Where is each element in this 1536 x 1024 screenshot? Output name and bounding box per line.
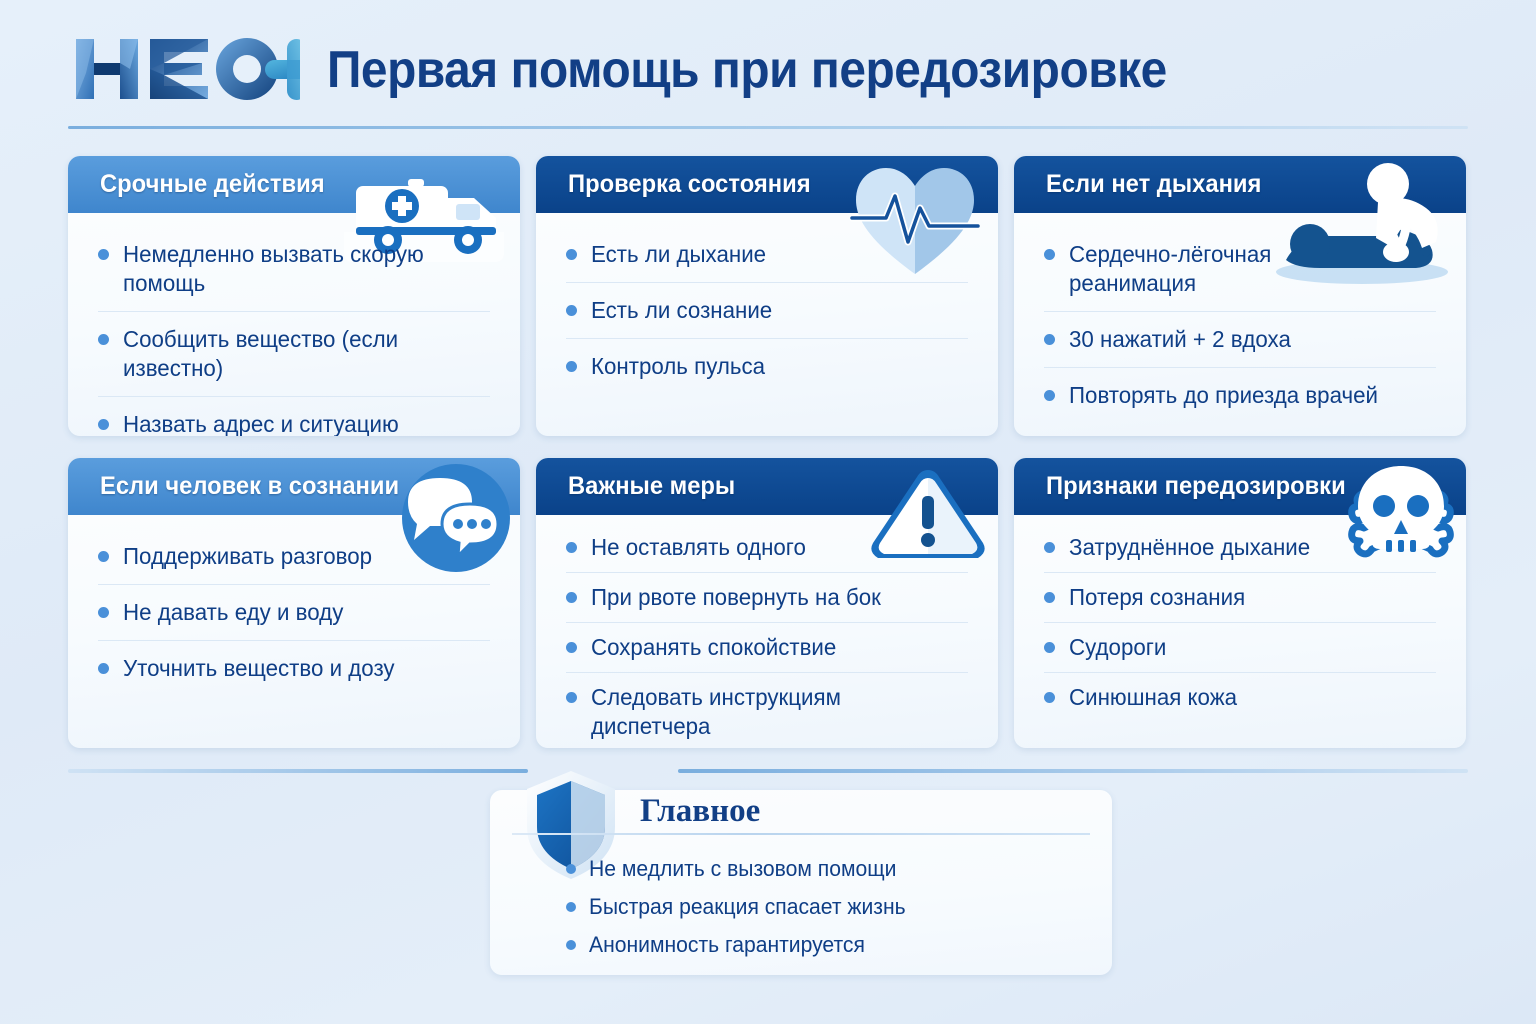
list-item-label: Анонимность гарантируется bbox=[589, 932, 865, 958]
list-item-label: Сохранять спокойствие bbox=[591, 633, 836, 662]
list-item-label: Немедленно вызвать скорую помощь bbox=[123, 240, 479, 298]
bullet-icon bbox=[98, 419, 109, 430]
bullet-icon bbox=[566, 361, 577, 372]
list-item[interactable]: Уточнить вещество и дозу bbox=[98, 641, 490, 696]
list-item[interactable]: Не оставлять одного bbox=[566, 523, 968, 573]
list-item-label: При рвоте повернуть на бок bbox=[591, 583, 881, 612]
bullet-icon bbox=[1044, 592, 1055, 603]
bullet-icon bbox=[566, 592, 577, 603]
header-divider bbox=[68, 126, 1468, 129]
list-item-label: Есть ли сознание bbox=[591, 296, 772, 325]
list-item[interactable]: Немедленно вызвать скорую помощь bbox=[98, 227, 490, 312]
list-item-label: Уточнить вещество и дозу bbox=[123, 654, 395, 683]
list-item[interactable]: Следовать инструкциям диспетчера bbox=[566, 673, 968, 748]
bullet-icon bbox=[1044, 692, 1055, 703]
card-overdose-signs[interactable]: Признаки передозировки Затруднённое дых bbox=[1014, 458, 1466, 748]
list-item[interactable]: Судороги bbox=[1044, 623, 1436, 673]
footer-divider-left bbox=[68, 769, 528, 773]
list-item-label: 30 нажатий + 2 вдоха bbox=[1069, 325, 1291, 354]
header: Первая помощь при передозировке bbox=[0, 0, 1536, 132]
bullet-icon bbox=[98, 249, 109, 260]
card-body: Есть ли дыхание Есть ли сознание Контрол… bbox=[536, 213, 998, 404]
list-item-label: Не давать еду и воду bbox=[123, 598, 343, 627]
card-header: Если человек в сознании bbox=[68, 458, 520, 515]
bullet-icon bbox=[1044, 249, 1055, 260]
bullet-icon bbox=[566, 642, 577, 653]
list-item-label: Судороги bbox=[1069, 633, 1166, 662]
list-item[interactable]: Затруднённое дыхание bbox=[1044, 523, 1436, 573]
list-item[interactable]: Сообщить вещество (если известно) bbox=[98, 312, 490, 397]
bullet-icon bbox=[98, 551, 109, 562]
list-item-label: Синюшная кожа bbox=[1069, 683, 1237, 712]
list-item[interactable]: Поддерживать разговор bbox=[98, 529, 490, 585]
card-header: Проверка состояния bbox=[536, 156, 998, 213]
card-important-measures[interactable]: Важные меры Не оставлять одного При рвот… bbox=[536, 458, 998, 748]
card-conscious-person[interactable]: Если человек в сознании Поддерживать раз… bbox=[68, 458, 520, 748]
footer-title-divider bbox=[512, 833, 1090, 835]
page-title: Первая помощь при передозировке bbox=[327, 40, 1167, 100]
list-item[interactable]: Сохранять спокойствие bbox=[566, 623, 968, 673]
card-title: Если нет дыхания bbox=[1046, 170, 1261, 199]
list-item[interactable]: Есть ли дыхание bbox=[566, 227, 968, 283]
bullet-icon bbox=[566, 305, 577, 316]
bullet-icon bbox=[1044, 542, 1055, 553]
card-body: Не оставлять одного При рвоте повернуть … bbox=[536, 515, 998, 748]
list-item[interactable]: Контроль пульса bbox=[566, 339, 968, 394]
card-title: Проверка состояния bbox=[568, 170, 811, 199]
bullet-icon bbox=[566, 940, 576, 950]
list-item-label: Контроль пульса bbox=[591, 352, 765, 381]
card-condition-check[interactable]: Проверка состояния Есть ли дыхание Есть … bbox=[536, 156, 998, 436]
footer-list: Не медлить с вызовом помощи Быстрая реак… bbox=[566, 850, 1086, 964]
list-item-label: Следовать инструкциям диспетчера bbox=[591, 683, 957, 741]
card-no-breathing[interactable]: Если нет дыхания Сердечно-лёгочная реани… bbox=[1014, 156, 1466, 436]
list-item[interactable]: Повторять до приезда врачей bbox=[1044, 368, 1436, 423]
list-item[interactable]: Не давать еду и воду bbox=[98, 585, 490, 641]
bullet-icon bbox=[98, 663, 109, 674]
card-title: Важные меры bbox=[568, 472, 735, 501]
list-item[interactable]: При рвоте повернуть на бок bbox=[566, 573, 968, 623]
list-item-label: Не оставлять одного bbox=[591, 533, 806, 562]
bullet-icon bbox=[566, 249, 577, 260]
list-item[interactable]: 30 нажатий + 2 вдоха bbox=[1044, 312, 1436, 368]
card-header: Срочные действия bbox=[68, 156, 520, 213]
bullet-icon bbox=[566, 542, 577, 553]
infographic-root: Первая помощь при передозировке Срочные … bbox=[0, 0, 1536, 1024]
list-item-label: Не медлить с вызовом помощи bbox=[589, 856, 896, 882]
bullet-icon bbox=[1044, 334, 1055, 345]
card-header: Важные меры bbox=[536, 458, 998, 515]
list-item[interactable]: Есть ли сознание bbox=[566, 283, 968, 339]
list-item[interactable]: Назвать адрес и ситуацию bbox=[98, 397, 490, 436]
card-urgent-actions[interactable]: Срочные действия Немедленно вызвать скор… bbox=[68, 156, 520, 436]
list-item[interactable]: Анонимность гарантируется bbox=[566, 926, 1086, 964]
list-item-label: Быстрая реакция спасает жизнь bbox=[589, 894, 906, 920]
list-item-label: Назвать адрес и ситуацию bbox=[123, 410, 399, 436]
bullet-icon bbox=[98, 334, 109, 345]
list-item-label: Повторять до приезда врачей bbox=[1069, 381, 1378, 410]
card-title: Срочные действия bbox=[100, 170, 325, 199]
bullet-icon bbox=[566, 864, 576, 874]
list-item[interactable]: Быстрая реакция спасает жизнь bbox=[566, 888, 1086, 926]
card-header: Если нет дыхания bbox=[1014, 156, 1466, 213]
bullet-icon bbox=[98, 607, 109, 618]
list-item-label: Есть ли дыхание bbox=[591, 240, 766, 269]
list-item[interactable]: Не медлить с вызовом помощи bbox=[566, 850, 1086, 888]
card-title: Признаки передозировки bbox=[1046, 472, 1346, 501]
list-item[interactable]: Потеря сознания bbox=[1044, 573, 1436, 623]
list-item[interactable]: Сердечно-лёгочная реанимация bbox=[1044, 227, 1436, 312]
bullet-icon bbox=[566, 692, 577, 703]
list-item-label: Поддерживать разговор bbox=[123, 542, 372, 571]
bullet-icon bbox=[1044, 390, 1055, 401]
footer-divider-right bbox=[678, 769, 1468, 773]
neo-plus-logo-icon bbox=[72, 33, 300, 105]
card-body: Немедленно вызвать скорую помощь Сообщит… bbox=[68, 213, 520, 436]
card-body: Сердечно-лёгочная реанимация 30 нажатий … bbox=[1014, 213, 1466, 433]
list-item-label: Затруднённое дыхание bbox=[1069, 533, 1310, 562]
card-header: Признаки передозировки bbox=[1014, 458, 1466, 515]
list-item[interactable]: Синюшная кожа bbox=[1044, 673, 1436, 722]
list-item-label: Потеря сознания bbox=[1069, 583, 1245, 612]
card-title: Если человек в сознании bbox=[100, 472, 399, 501]
footer-title: Главное bbox=[640, 793, 760, 830]
card-body: Поддерживать разговор Не давать еду и во… bbox=[68, 515, 520, 706]
bullet-icon bbox=[566, 902, 576, 912]
card-body: Затруднённое дыхание Потеря сознания Суд… bbox=[1014, 515, 1466, 732]
list-item-label: Сердечно-лёгочная реанимация bbox=[1069, 240, 1292, 298]
bullet-icon bbox=[1044, 642, 1055, 653]
list-item-label: Сообщить вещество (если известно) bbox=[123, 325, 479, 383]
